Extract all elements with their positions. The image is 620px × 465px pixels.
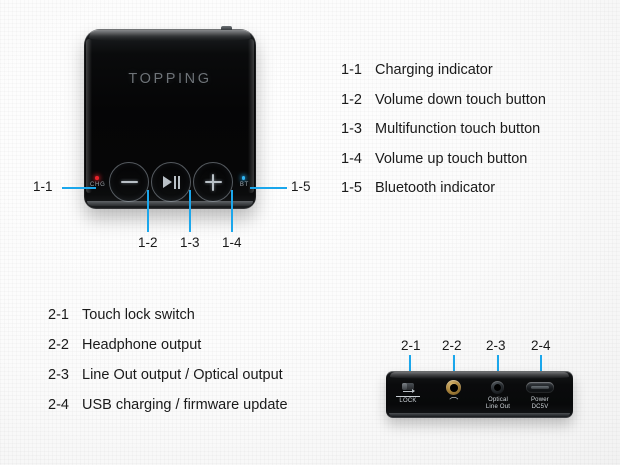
leader-line-1-3 bbox=[189, 190, 191, 232]
legend-text: USB charging / firmware update bbox=[82, 397, 288, 413]
bluetooth-indicator-label: BT bbox=[240, 182, 249, 188]
usb-c-power-port[interactable] bbox=[526, 382, 554, 393]
legend-text: Touch lock switch bbox=[82, 307, 195, 323]
touch-lock-switch[interactable] bbox=[402, 383, 414, 390]
jack-hole-icon bbox=[450, 384, 458, 392]
volume-up-touch-button[interactable] bbox=[193, 162, 233, 202]
legend-text: Multifunction touch button bbox=[375, 121, 540, 137]
legend-item-2-4: 2-4 USB charging / firmware update bbox=[48, 397, 358, 427]
play-pause-icon bbox=[163, 176, 180, 189]
legend-index: 2-3 bbox=[48, 367, 82, 383]
legend-item-1-4: 1-4 Volume up touch button bbox=[341, 151, 613, 181]
leader-line-1-2 bbox=[147, 190, 149, 232]
leader-line-2-3 bbox=[497, 355, 499, 372]
legend-index: 2-1 bbox=[48, 307, 82, 323]
leader-line-2-2 bbox=[453, 355, 455, 372]
legend-text: Line Out output / Optical output bbox=[82, 367, 283, 383]
switch-arrow-icon bbox=[403, 391, 414, 392]
legend-text: Headphone output bbox=[82, 337, 201, 353]
charging-indicator-led bbox=[95, 176, 99, 180]
legend-top-device: 1-1 Charging indicator 1-2 Volume down t… bbox=[341, 62, 613, 210]
legend-index: 1-2 bbox=[341, 92, 375, 108]
legend-index: 1-4 bbox=[341, 151, 375, 167]
legend-text: Charging indicator bbox=[375, 62, 493, 78]
lock-port-label: LOCK bbox=[396, 396, 420, 405]
legend-text: Volume up touch button bbox=[375, 151, 527, 167]
leader-line-2-1 bbox=[409, 355, 411, 372]
diagram-canvas: TOPPING CHG BT 1-1 1-5 1-2 bbox=[0, 0, 620, 465]
leader-line-1-1 bbox=[62, 187, 96, 189]
callout-1-5: 1-5 bbox=[291, 179, 311, 194]
legend-index: 1-1 bbox=[341, 62, 375, 78]
bluetooth-indicator-led bbox=[242, 176, 246, 180]
legend-item-1-5: 1-5 Bluetooth indicator bbox=[341, 180, 613, 210]
legend-index: 1-3 bbox=[341, 121, 375, 137]
power-port-label: Power DC5V bbox=[524, 397, 556, 411]
legend-item-1-2: 1-2 Volume down touch button bbox=[341, 92, 613, 122]
minus-icon bbox=[121, 181, 138, 183]
headphone-output-jack[interactable] bbox=[446, 380, 461, 395]
optical-port-label: Optical Line Out bbox=[481, 397, 515, 411]
headphone-port-label: ⌒ bbox=[442, 397, 466, 407]
usb-c-tongue-icon bbox=[531, 386, 549, 389]
legend-item-2-3: 2-3 Line Out output / Optical output bbox=[48, 367, 358, 397]
callout-1-4: 1-4 bbox=[222, 235, 242, 250]
legend-item-2-2: 2-2 Headphone output bbox=[48, 337, 358, 367]
legend-item-2-1: 2-1 Touch lock switch bbox=[48, 307, 358, 337]
leader-line-2-4 bbox=[540, 355, 542, 372]
multifunction-touch-button[interactable] bbox=[151, 162, 191, 202]
legend-item-1-1: 1-1 Charging indicator bbox=[341, 62, 613, 92]
device-side-view: LOCK ⌒ Optical Line Out Power DC5V bbox=[386, 371, 573, 418]
legend-text: Bluetooth indicator bbox=[375, 180, 495, 196]
callout-2-1: 2-1 bbox=[401, 338, 421, 353]
callout-1-2: 1-2 bbox=[138, 235, 158, 250]
jack-hole-icon bbox=[494, 384, 501, 391]
legend-text: Volume down touch button bbox=[375, 92, 546, 108]
callout-2-4: 2-4 bbox=[531, 338, 551, 353]
plus-icon bbox=[205, 174, 222, 191]
volume-down-touch-button[interactable] bbox=[109, 162, 149, 202]
callout-1-3: 1-3 bbox=[180, 235, 200, 250]
legend-index: 2-4 bbox=[48, 397, 82, 413]
callout-1-1: 1-1 bbox=[33, 179, 53, 194]
optical-lineout-jack[interactable] bbox=[491, 381, 504, 394]
legend-side-device: 2-1 Touch lock switch 2-2 Headphone outp… bbox=[48, 307, 358, 427]
brand-logo: TOPPING bbox=[84, 71, 256, 87]
callout-2-2: 2-2 bbox=[442, 338, 462, 353]
device-top-view: TOPPING CHG BT bbox=[84, 29, 256, 209]
callout-2-3: 2-3 bbox=[486, 338, 506, 353]
legend-item-1-3: 1-3 Multifunction touch button bbox=[341, 121, 613, 151]
leader-line-1-4 bbox=[231, 190, 233, 232]
device-top-switch-nub bbox=[221, 26, 232, 31]
legend-index: 2-2 bbox=[48, 337, 82, 353]
switch-knob-icon bbox=[402, 383, 407, 390]
leader-line-1-5 bbox=[250, 187, 287, 189]
legend-index: 1-5 bbox=[341, 180, 375, 196]
